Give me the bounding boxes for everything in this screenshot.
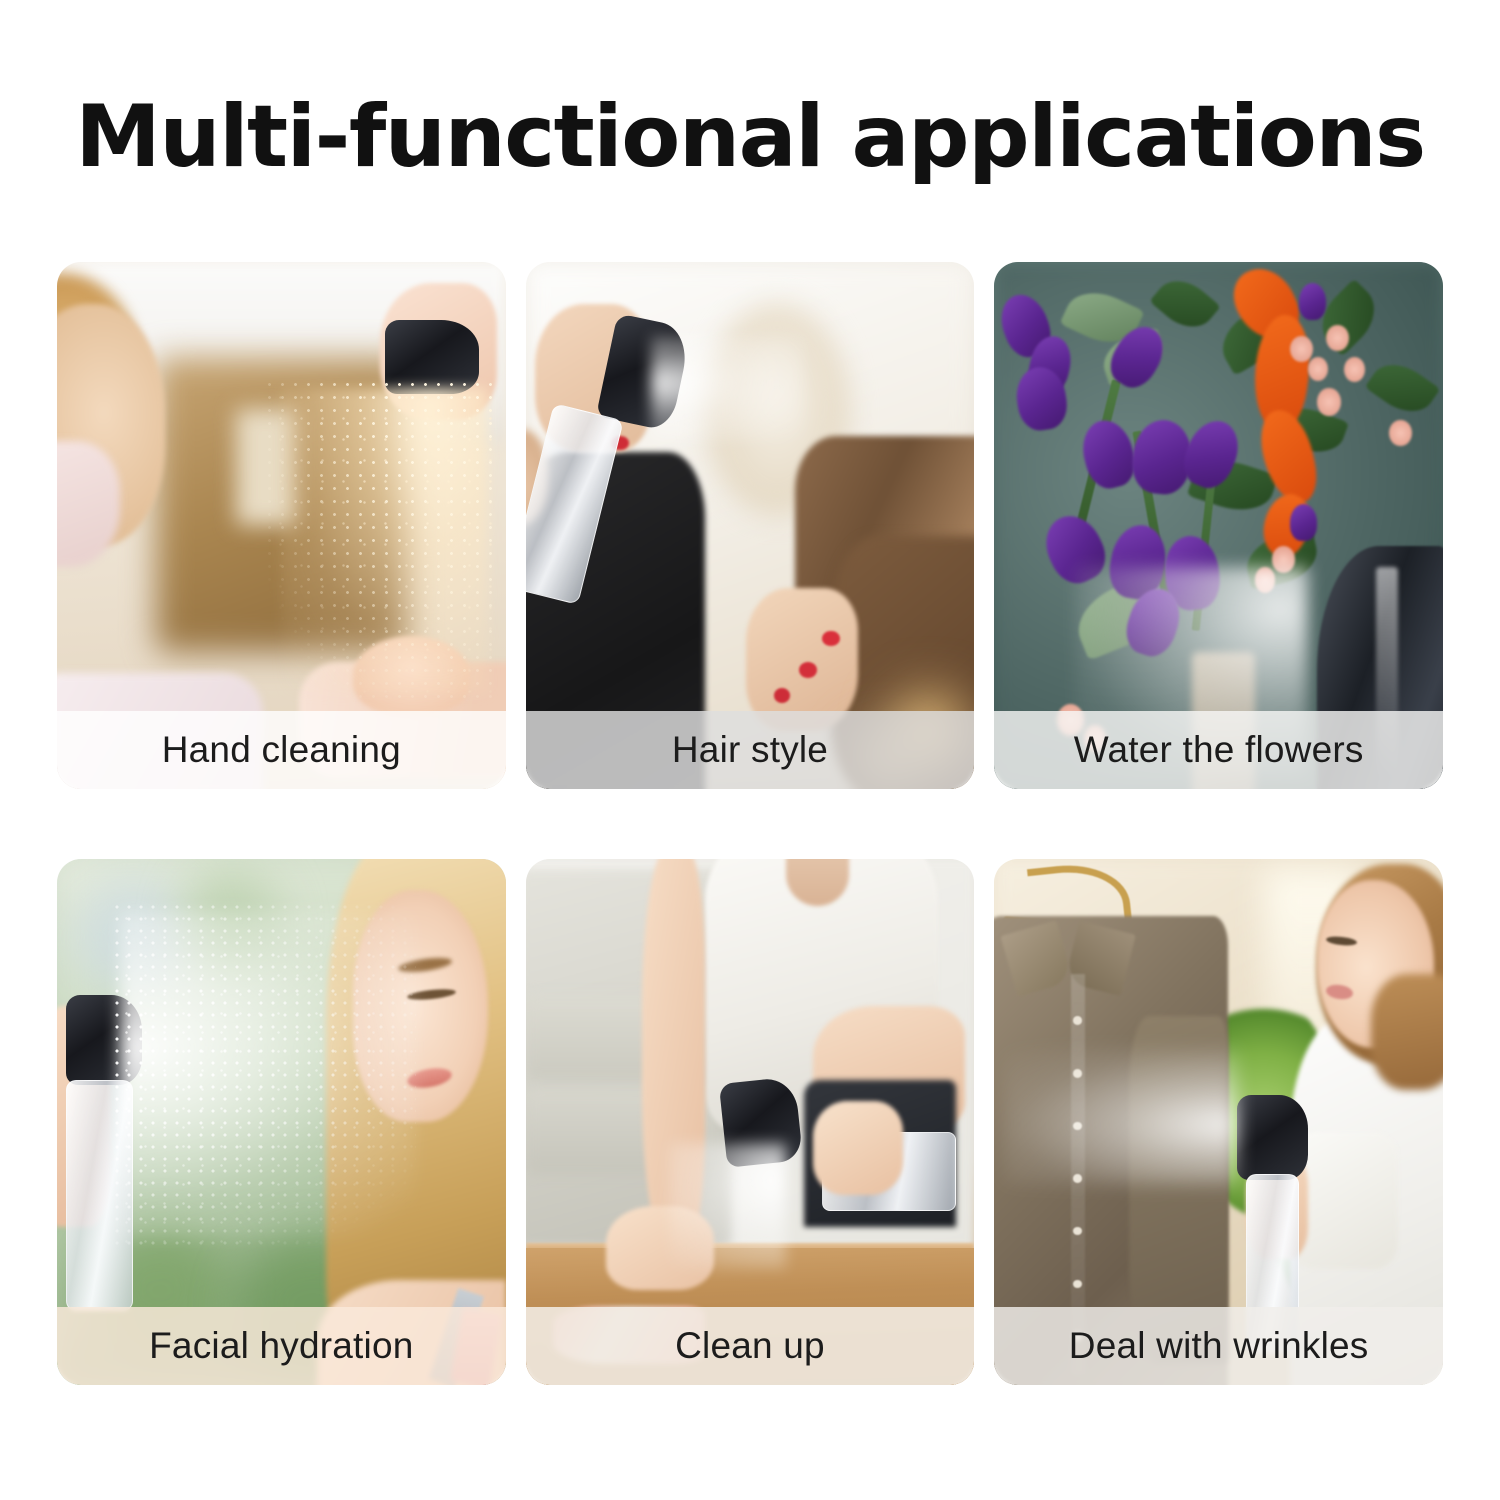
page-title: Multi-functional applications <box>0 92 1500 182</box>
application-card-water-the-flowers[interactable]: Water the flowers <box>994 262 1443 789</box>
application-card-hand-cleaning[interactable]: Hand cleaning <box>57 262 506 789</box>
infographic-page: Multi-functional applications Hand clea <box>0 0 1500 1500</box>
caption-label: Deal with wrinkles <box>1069 1325 1369 1367</box>
caption-label: Hand cleaning <box>162 729 401 771</box>
caption-label: Hair style <box>672 729 828 771</box>
caption-bar: Water the flowers <box>994 711 1443 789</box>
application-card-deal-with-wrinkles[interactable]: Deal with wrinkles <box>994 859 1443 1386</box>
caption-bar: Deal with wrinkles <box>994 1307 1443 1385</box>
application-card-clean-up[interactable]: Clean up <box>526 859 975 1386</box>
caption-label: Facial hydration <box>149 1325 413 1367</box>
caption-bar: Hair style <box>526 711 975 789</box>
spray-bottle-icon <box>1237 1095 1309 1179</box>
caption-bar: Hand cleaning <box>57 711 506 789</box>
caption-bar: Clean up <box>526 1307 975 1385</box>
caption-bar: Facial hydration <box>57 1307 506 1385</box>
caption-label: Clean up <box>675 1325 825 1367</box>
application-card-hair-style[interactable]: Hair style <box>526 262 975 789</box>
application-card-grid: Hand cleaning <box>57 262 1443 1385</box>
caption-label: Water the flowers <box>1074 729 1364 771</box>
application-card-facial-hydration[interactable]: Facial hydration <box>57 859 506 1386</box>
